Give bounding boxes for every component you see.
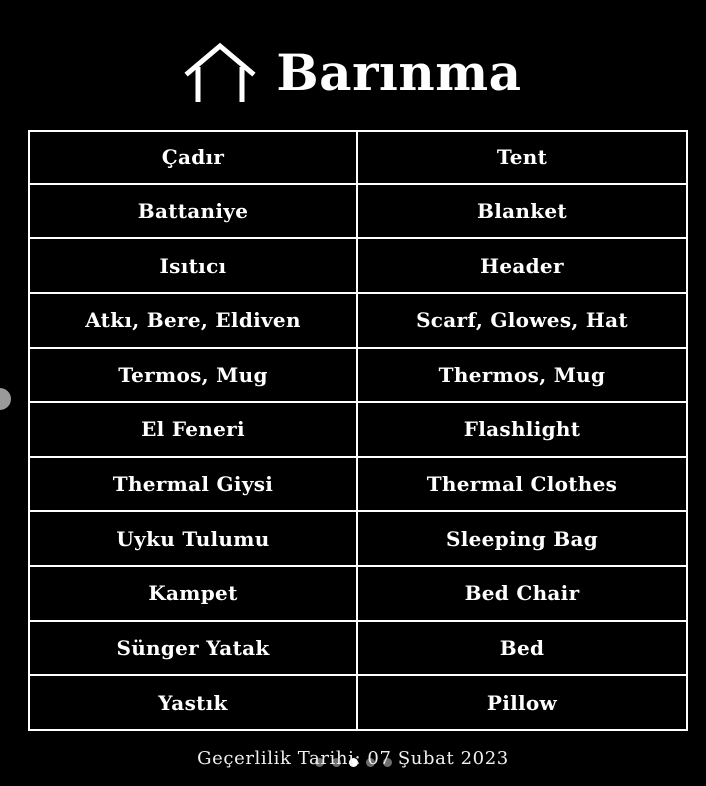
- header: Barınma: [0, 34, 706, 112]
- cell-turkish: Çadır: [28, 130, 358, 185]
- table-row: El FeneriFlashlight: [28, 403, 688, 458]
- cell-english: Bed: [358, 622, 688, 677]
- cell-english: Pillow: [358, 676, 688, 731]
- table-row: YastıkPillow: [28, 676, 688, 731]
- cell-english: Sleeping Bag: [358, 512, 688, 567]
- table-row: Thermal GiysiThermal Clothes: [28, 458, 688, 513]
- cell-turkish: Sünger Yatak: [28, 622, 358, 677]
- cell-english: Bed Chair: [358, 567, 688, 622]
- cell-english: Header: [358, 239, 688, 294]
- table-row: BattaniyeBlanket: [28, 185, 688, 240]
- table-row: KampetBed Chair: [28, 567, 688, 622]
- house-icon: [184, 42, 256, 104]
- cell-turkish: Thermal Giysi: [28, 458, 358, 513]
- table-row: Termos, MugThermos, Mug: [28, 349, 688, 404]
- cell-turkish: Isıtıcı: [28, 239, 358, 294]
- table-row: IsıtıcıHeader: [28, 239, 688, 294]
- cell-turkish: Atkı, Bere, Eldiven: [28, 294, 358, 349]
- table-body: ÇadırTentBattaniyeBlanketIsıtıcıHeaderAt…: [28, 130, 688, 731]
- footer: Geçerlilik Tarihi: 07 Şubat 2023: [0, 748, 706, 782]
- table-row: Uyku TulumuSleeping Bag: [28, 512, 688, 567]
- previous-slide-button[interactable]: [0, 388, 11, 410]
- cell-turkish: Battaniye: [28, 185, 358, 240]
- cell-turkish: Kampet: [28, 567, 358, 622]
- vocabulary-table-wrapper: ÇadırTentBattaniyeBlanketIsıtıcıHeaderAt…: [28, 130, 688, 731]
- cell-english: Thermos, Mug: [358, 349, 688, 404]
- cell-turkish: Yastık: [28, 676, 358, 731]
- cell-turkish: El Feneri: [28, 403, 358, 458]
- table-row: ÇadırTent: [28, 130, 688, 185]
- table-row: Sünger YatakBed: [28, 622, 688, 677]
- cell-english: Scarf, Glowes, Hat: [358, 294, 688, 349]
- cell-english: Flashlight: [358, 403, 688, 458]
- validity-date-text: Geçerlilik Tarihi: 07 Şubat 2023: [0, 748, 706, 769]
- table-row: Atkı, Bere, EldivenScarf, Glowes, Hat: [28, 294, 688, 349]
- cell-turkish: Uyku Tulumu: [28, 512, 358, 567]
- cell-english: Thermal Clothes: [358, 458, 688, 513]
- vocabulary-table: ÇadırTentBattaniyeBlanketIsıtıcıHeaderAt…: [28, 130, 688, 731]
- cell-turkish: Termos, Mug: [28, 349, 358, 404]
- cell-english: Tent: [358, 130, 688, 185]
- page-title: Barınma: [276, 48, 521, 98]
- cell-english: Blanket: [358, 185, 688, 240]
- slide-canvas: Barınma ÇadırTentBattaniyeBlanketIsıtıcı…: [0, 0, 706, 786]
